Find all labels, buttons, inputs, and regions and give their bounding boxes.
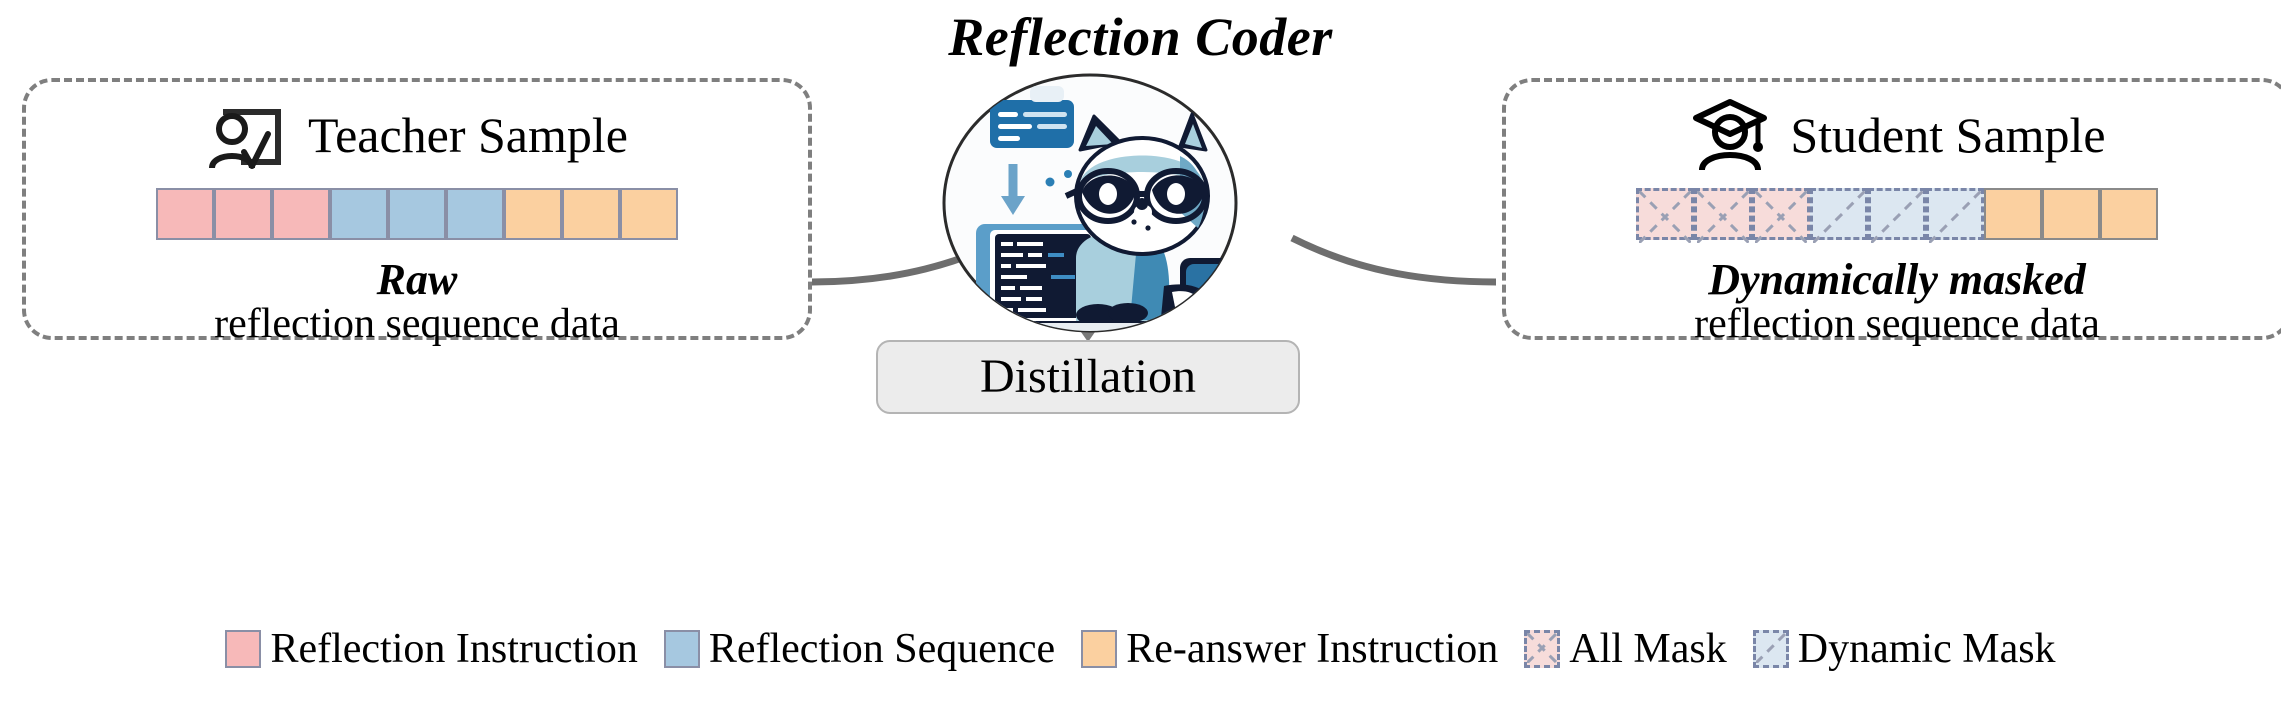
token-reflection-sequence-dynamic-masked xyxy=(1810,188,1868,240)
graduation-cap-icon xyxy=(1688,96,1772,174)
token-reflection-instruction xyxy=(214,188,272,240)
token-reanswer-instruction xyxy=(504,188,562,240)
legend-item: Dynamic Mask xyxy=(1753,628,2056,670)
token-reflection-instruction-all-masked xyxy=(1694,188,1752,240)
dynamic-mask-hatch-icon xyxy=(1929,191,1981,243)
legend-item: Reflection Sequence xyxy=(664,628,1055,670)
student-panel-title: Student Sample xyxy=(1790,110,2105,160)
teacher-caption-sub: reflection sequence data xyxy=(26,300,808,348)
student-token-sequence xyxy=(1636,188,2158,240)
legend-swatch-reflection-sequence xyxy=(664,630,700,668)
distillation-box[interactable]: Distillation xyxy=(876,340,1300,414)
token-reanswer-instruction xyxy=(620,188,678,240)
token-reanswer-instruction xyxy=(562,188,620,240)
dynamic-mask-hatch-icon xyxy=(1871,191,1923,243)
page-title: Reflection Coder xyxy=(0,6,2281,68)
teacher-panel-title: Teacher Sample xyxy=(308,110,628,160)
legend-label: Reflection Instruction xyxy=(270,628,637,670)
teacher-token-sequence xyxy=(156,188,678,240)
all-mask-hatch-icon xyxy=(1697,191,1749,243)
token-reflection-instruction-all-masked xyxy=(1636,188,1694,240)
legend-item: All Mask xyxy=(1524,628,1727,670)
teacher-panel-header: Teacher Sample xyxy=(26,96,808,174)
token-reanswer-instruction xyxy=(1984,188,2042,240)
teacher-sample-panel: Teacher Sample Raw reflection sequence d… xyxy=(22,78,812,340)
legend-swatch-reflection-instruction xyxy=(225,630,261,668)
reflection-coder-diagram: Reflection Coder Teacher Sample Raw refl… xyxy=(0,0,2281,709)
student-sample-panel: Student Sample Dynamically masked reflec… xyxy=(1502,78,2281,340)
token-reflection-sequence xyxy=(446,188,504,240)
token-reflection-instruction xyxy=(272,188,330,240)
student-caption-strong: Dynamically masked xyxy=(1506,254,2281,305)
token-reflection-instruction xyxy=(156,188,214,240)
teacher-presenting-icon xyxy=(206,96,290,174)
token-reflection-sequence xyxy=(388,188,446,240)
token-reanswer-instruction xyxy=(2100,188,2158,240)
legend-swatch-all-mask xyxy=(1524,630,1560,668)
legend-item: Re-answer Instruction xyxy=(1081,628,1498,670)
distillation-label: Distillation xyxy=(980,353,1196,401)
legend-label: Re-answer Instruction xyxy=(1126,628,1498,670)
token-reflection-sequence-dynamic-masked xyxy=(1926,188,1984,240)
teacher-caption-strong: Raw xyxy=(26,254,808,305)
legend-item: Reflection Instruction xyxy=(225,628,637,670)
token-reflection-instruction-all-masked xyxy=(1752,188,1810,240)
legend: Reflection InstructionReflection Sequenc… xyxy=(0,628,2281,670)
legend-label: Reflection Sequence xyxy=(709,628,1055,670)
legend-swatch-dynamic-mask xyxy=(1753,630,1789,668)
all-mask-hatch-icon xyxy=(1755,191,1807,243)
dynamic-mask-hatch-icon xyxy=(1756,633,1786,663)
all-mask-hatch-icon xyxy=(1527,633,1557,663)
token-reflection-sequence-dynamic-masked xyxy=(1868,188,1926,240)
token-reflection-sequence xyxy=(330,188,388,240)
legend-swatch-re-answer-instruction xyxy=(1081,630,1117,668)
legend-label: Dynamic Mask xyxy=(1798,628,2056,670)
student-panel-header: Student Sample xyxy=(1506,96,2281,174)
raccoon-coder-mascot xyxy=(880,72,1300,334)
all-mask-hatch-icon xyxy=(1639,191,1691,243)
token-reanswer-instruction xyxy=(2042,188,2100,240)
student-caption-sub: reflection sequence data xyxy=(1506,300,2281,348)
legend-label: All Mask xyxy=(1569,628,1727,670)
dynamic-mask-hatch-icon xyxy=(1813,191,1865,243)
